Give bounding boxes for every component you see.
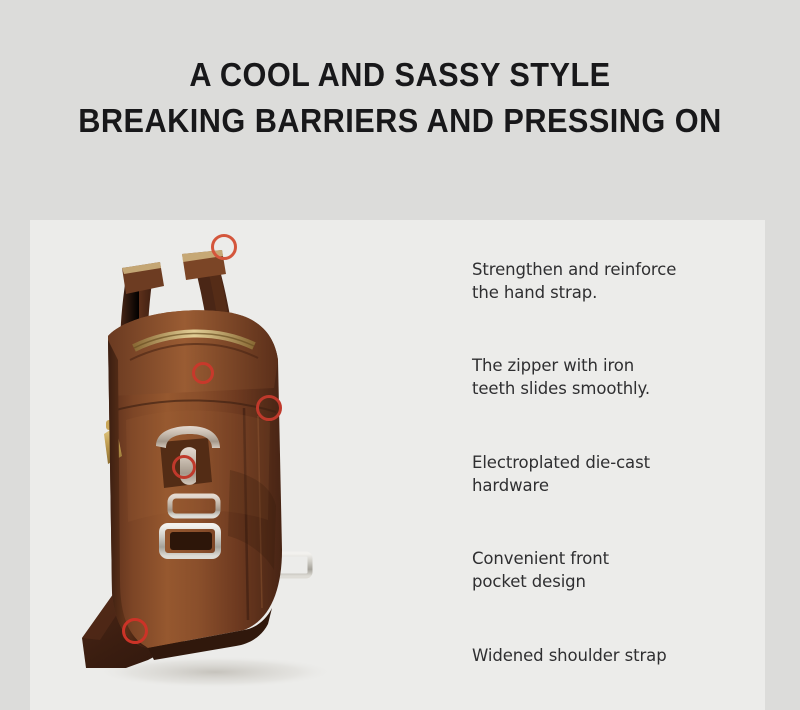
feature-2-line-2: hardware	[472, 474, 732, 497]
feature-item-1: The zipper with iron teeth slides smooth…	[472, 354, 732, 400]
buckle-inner-leather	[170, 532, 212, 550]
feature-item-0: Strengthen and reinforce the hand strap.	[472, 258, 732, 304]
feature-item-2: Electroplated die-cast hardware	[472, 451, 732, 497]
feature-1-line-2: teeth slides smoothly.	[472, 377, 732, 400]
product-image	[30, 220, 450, 710]
bag-top-panel	[108, 310, 278, 396]
feature-3-line-2: pocket design	[472, 570, 732, 593]
feature-1-line-1: The zipper with iron	[472, 354, 732, 377]
marker-shoulder-strap-ring	[122, 618, 148, 644]
headline-line-2: BREAKING BARRIERS AND PRESSING ON	[28, 98, 772, 144]
marker-zipper-ring	[192, 362, 214, 384]
feature-4-line-1: Widened shoulder strap	[472, 644, 732, 667]
marker-clasp-ring	[172, 455, 196, 479]
marker-hand-strap-ring	[211, 234, 237, 260]
feature-item-4: Widened shoulder strap	[472, 644, 732, 667]
marker-hardware-side-ring	[256, 395, 282, 421]
feature-item-3: Convenient front pocket design	[472, 547, 732, 593]
briefcase-illustration	[30, 220, 450, 710]
feature-list: Strengthen and reinforce the hand strap.…	[472, 258, 732, 667]
headline-line-1: A COOL AND SASSY STYLE	[28, 52, 772, 98]
feature-0-line-2: the hand strap.	[472, 281, 732, 304]
page-title: A COOL AND SASSY STYLE BREAKING BARRIERS…	[0, 52, 800, 144]
feature-0-line-1: Strengthen and reinforce	[472, 258, 732, 281]
feature-2-line-1: Electroplated die-cast	[472, 451, 732, 474]
feature-3-line-1: Convenient front	[472, 547, 732, 570]
